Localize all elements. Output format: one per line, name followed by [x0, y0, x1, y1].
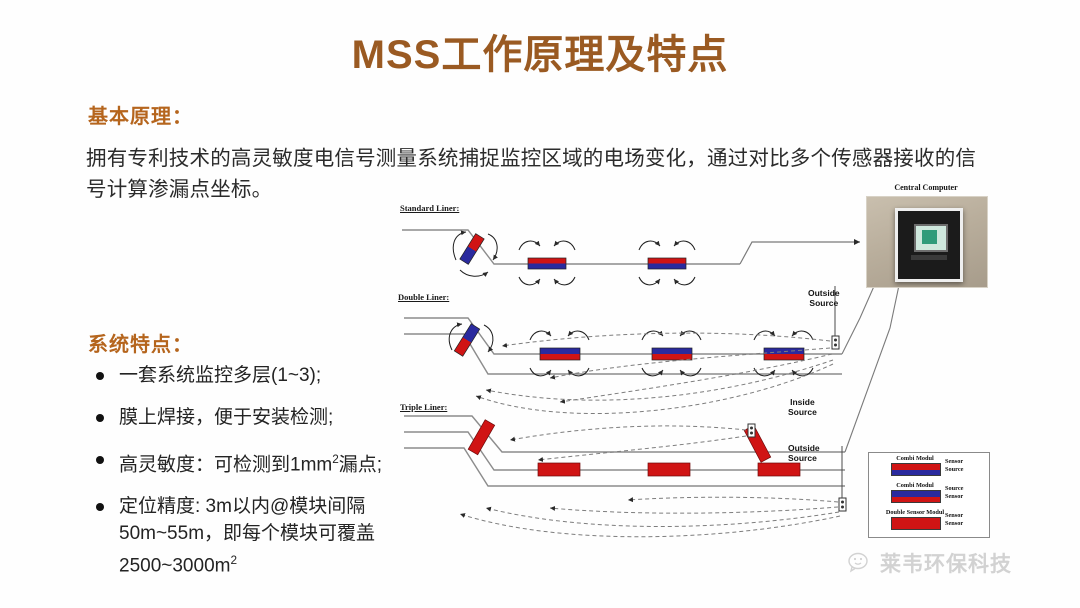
legend-roles: Sensor Source: [945, 458, 963, 474]
diagram-label-inside-source: Inside Source: [788, 397, 817, 417]
legend-role-line2: Sensor: [945, 520, 963, 528]
list-item-label: 高灵敏度：可检测到1mm2漏点;: [119, 446, 426, 478]
computer-screen: [914, 224, 948, 252]
legend-title: Combi Modul: [875, 455, 955, 462]
legend-swatch: [891, 490, 941, 503]
source-label-line2: Source: [788, 453, 820, 463]
section-heading-basic-principle: 基本原理：: [88, 100, 193, 129]
legend-role-line2: Source: [945, 466, 963, 474]
source-label-line1: Inside: [788, 397, 817, 407]
bullet-dot-icon: [96, 456, 104, 464]
central-computer-caption: Central Computer: [864, 183, 988, 192]
page-title: MSS工作原理及特点: [0, 22, 1080, 80]
list-item: 高灵敏度：可检测到1mm2漏点;: [96, 446, 426, 478]
diagram-label-outside-source-bottom: Outside Source: [788, 443, 820, 463]
computer-cabinet: [895, 208, 963, 282]
source-label-line1: Outside: [788, 443, 820, 453]
list-item-label: 膜上焊接，便于安装检测;: [119, 404, 426, 431]
module-legend: Combi Modul Sensor Source Combi Modul So…: [868, 452, 990, 538]
legend-swatch: [891, 517, 941, 530]
bullet-dot-icon: [96, 503, 104, 511]
legend-row: Combi Modul Sensor Source: [869, 455, 989, 481]
list-item: 膜上焊接，便于安装检测;: [96, 404, 426, 431]
wechat-icon: [848, 552, 874, 574]
watermark: 莱韦环保科技: [848, 548, 1012, 578]
legend-role-line1: Sensor: [945, 512, 963, 520]
bullet-dot-icon: [96, 372, 104, 380]
list-item-label: 定位精度: 3m以内@模块间隔50m~55m，即每个模块可覆盖2500~3000…: [119, 493, 426, 579]
legend-role-line1: Sensor: [945, 458, 963, 466]
diagram-label-double-liner: Double Liner:: [398, 292, 449, 302]
list-item: 一套系统监控多层(1~3);: [96, 362, 426, 389]
legend-role-line2: Sensor: [945, 493, 963, 501]
bullet-dot-icon: [96, 414, 104, 422]
legend-role-line1: Source: [945, 485, 963, 493]
slide-canvas: MSS工作原理及特点 基本原理： 拥有专利技术的高灵敏度电信号测量系统捕捉监控区…: [0, 0, 1080, 608]
legend-row: Double Sensor Modul Sensor Sensor: [869, 509, 989, 535]
computer-keyboard-slot: [911, 255, 947, 260]
central-computer-figure: Central Computer: [864, 183, 988, 288]
legend-row: Combi Modul Source Sensor: [869, 482, 989, 508]
central-computer-photo: [866, 196, 988, 288]
watermark-label: 莱韦环保科技: [880, 548, 1012, 578]
list-item-label: 一套系统监控多层(1~3);: [119, 362, 426, 389]
list-item: 定位精度: 3m以内@模块间隔50m~55m，即每个模块可覆盖2500~3000…: [96, 493, 426, 579]
diagram-label-outside-source-top: Outside Source: [808, 288, 840, 308]
legend-title: Combi Modul: [875, 482, 955, 489]
diagram-label-triple-liner: Triple Liner:: [400, 402, 447, 412]
legend-roles: Sensor Sensor: [945, 512, 963, 528]
diagram-label-standard-liner: Standard Liner:: [400, 203, 459, 213]
source-label-line2: Source: [808, 298, 840, 308]
source-label-line1: Outside: [808, 288, 840, 298]
source-label-line2: Source: [788, 407, 817, 417]
section-heading-system-features: 系统特点：: [88, 328, 193, 357]
legend-swatch: [891, 463, 941, 476]
legend-roles: Source Sensor: [945, 485, 963, 501]
feature-bullet-list: 一套系统监控多层(1~3); 膜上焊接，便于安装检测; 高灵敏度：可检测到1mm…: [96, 362, 426, 595]
